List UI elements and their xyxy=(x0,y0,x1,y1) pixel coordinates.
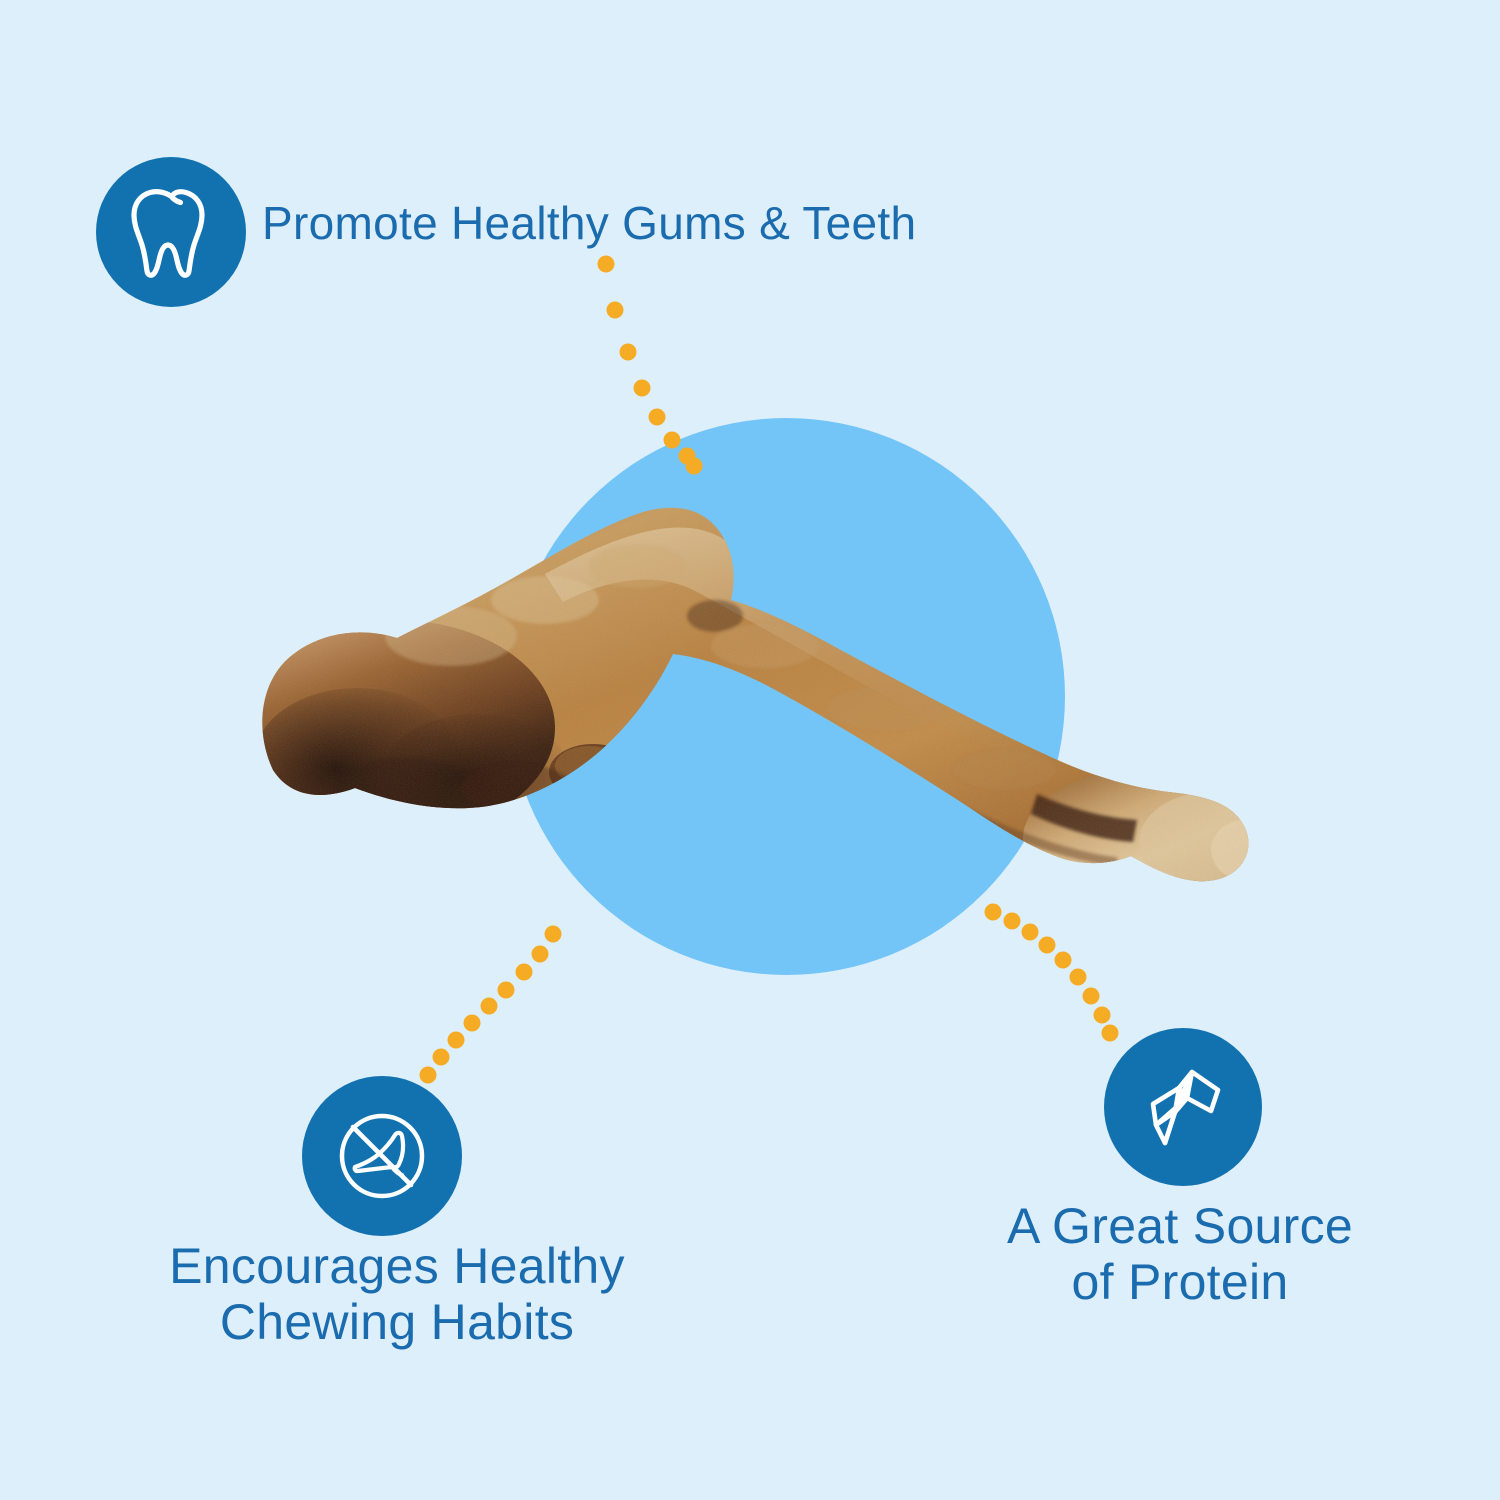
protein-helix-icon xyxy=(1131,1055,1235,1159)
benefit-label-healthy-gums-teeth: Promote Healthy Gums & Teeth xyxy=(262,198,916,250)
product-infographic: Promote Healthy Gums & Teeth Encourages … xyxy=(0,0,1500,1500)
connector-protein-dot xyxy=(1083,988,1100,1005)
product-image-bone xyxy=(245,470,1265,960)
connector-teeth-dot xyxy=(598,256,615,273)
tooth-icon xyxy=(125,182,217,282)
connector-chewing-dot xyxy=(464,1015,481,1032)
connector-teeth-dot xyxy=(620,344,637,361)
no-shoe-icon xyxy=(328,1102,436,1210)
badge-great-source-protein xyxy=(1104,1028,1262,1186)
connector-chewing-dot xyxy=(433,1049,450,1066)
connector-teeth-dot xyxy=(634,380,651,397)
connector-protein-dot xyxy=(1102,1025,1119,1042)
connector-teeth-dot xyxy=(649,409,666,426)
benefit-label-great-source-protein: A Great Source of Protein xyxy=(965,1198,1395,1310)
connector-chewing-dot xyxy=(448,1032,465,1049)
badge-healthy-chewing-habits xyxy=(302,1076,462,1236)
connector-chewing-dot xyxy=(498,982,515,999)
badge-healthy-gums-teeth xyxy=(96,157,246,307)
connector-chewing-dot xyxy=(481,998,498,1015)
connector-protein-dot xyxy=(1070,969,1087,986)
connector-chewing-dot xyxy=(516,964,533,981)
connector-chewing-dot xyxy=(420,1067,437,1084)
connector-protein-dot xyxy=(1094,1007,1111,1024)
connector-teeth-dot xyxy=(607,302,624,319)
benefit-label-healthy-chewing-habits: Encourages Healthy Chewing Habits xyxy=(130,1238,664,1350)
